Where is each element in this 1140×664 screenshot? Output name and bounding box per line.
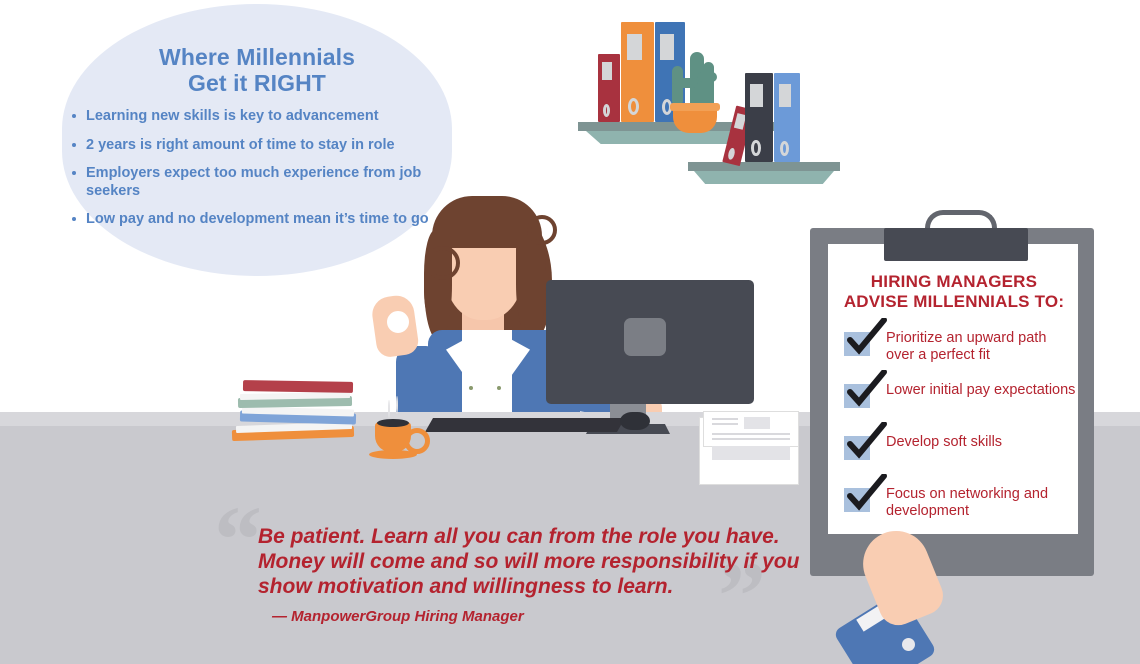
cactus-arm-right — [703, 62, 714, 108]
steam-left — [388, 400, 390, 418]
coffee-surface — [377, 419, 409, 427]
clipboard-title-line-1: HIRING MANAGERS — [871, 272, 1037, 291]
quote-text: Be patient. Learn all you can from the r… — [258, 524, 818, 599]
checkmark-icon — [844, 370, 888, 410]
plant-pot-rim — [670, 103, 720, 111]
checklist-item[interactable]: Develop soft skills — [840, 434, 1076, 472]
title-line-1: Where Millennials — [159, 44, 355, 70]
keyboard — [425, 418, 625, 432]
checkmark-icon — [844, 318, 888, 358]
clipboard-title: HIRING MANAGERS ADVISE MILLENNIALS TO: — [840, 272, 1068, 312]
checklist-label: Prioritize an upward path over a perfect… — [886, 330, 1076, 364]
jacket-button-left — [469, 386, 473, 390]
binder-ring — [727, 147, 736, 160]
binder-ring — [780, 141, 789, 156]
paper-line — [712, 418, 738, 420]
binder-ring — [751, 140, 761, 156]
jacket-button-right — [497, 386, 501, 390]
shelf-lower-edge — [694, 171, 834, 184]
binder-ring — [628, 98, 639, 115]
binder-label — [779, 84, 791, 107]
checklist-item[interactable]: Focus on networking and development — [840, 486, 1076, 524]
title-line-2: Get it RIGHT — [188, 70, 326, 96]
speech-bubble-content: Where Millennials Get it RIGHT Learning … — [62, 30, 452, 280]
steam-right — [396, 396, 398, 414]
checklist-label: Focus on networking and development — [886, 486, 1076, 520]
binder-label — [660, 34, 674, 60]
cactus-arm-left-join — [672, 78, 698, 88]
checkmark-icon — [844, 474, 888, 514]
checklist-item[interactable]: Prioritize an upward path over a perfect… — [840, 330, 1076, 368]
binder-red-upper — [598, 54, 620, 122]
clipboard-checklist: Prioritize an upward path over a perfect… — [840, 330, 1076, 538]
binder-dark-lower — [745, 73, 773, 162]
paper-body-block — [712, 446, 790, 460]
hair-curl-right — [527, 215, 557, 245]
speech-bubble-title: Where Millennials Get it RIGHT — [62, 30, 452, 96]
clipboard-title-line-2: ADVISE MILLENNIALS TO: — [844, 292, 1064, 311]
paper-photo-block — [744, 417, 770, 429]
ok-gesture-ring — [382, 306, 414, 338]
binder-label — [627, 34, 642, 60]
shelf-lower-surface — [688, 162, 840, 171]
sleeve-button — [902, 638, 915, 651]
paper-line — [712, 433, 790, 435]
paper-line — [712, 423, 738, 425]
binder-label — [602, 62, 612, 80]
mouse — [620, 412, 650, 430]
checkmark-icon — [844, 422, 888, 462]
bullet-item: Learning new skills is key to advancemen… — [70, 108, 438, 126]
paper-line — [712, 438, 790, 440]
saucer — [369, 450, 417, 459]
monitor-plate — [624, 318, 666, 356]
bullet-item: Low pay and no development mean it’s tim… — [70, 211, 438, 229]
binder-label — [750, 84, 763, 107]
bullet-item: 2 years is right amount of time to stay … — [70, 137, 438, 155]
checklist-label: Lower initial pay expectations — [886, 382, 1076, 399]
bullet-item: Employers expect too much experience fro… — [70, 165, 438, 200]
checklist-label: Develop soft skills — [886, 434, 1076, 451]
quote-attribution: — ManpowerGroup Hiring Manager — [272, 608, 812, 625]
binder-ring — [603, 104, 610, 117]
binder-lightblue-lower — [774, 73, 800, 162]
infographic-canvas: Where Millennials Get it RIGHT Learning … — [0, 0, 1140, 664]
binder-orange-upper — [621, 22, 654, 122]
cactus-arm-right-join — [697, 72, 717, 82]
millennials-bullet-list: Learning new skills is key to advancemen… — [62, 108, 452, 229]
clipboard-clip — [884, 228, 1028, 261]
quote-open-mark: “ — [214, 492, 262, 588]
book-red — [243, 380, 353, 393]
checklist-item[interactable]: Lower initial pay expectations — [840, 382, 1076, 420]
